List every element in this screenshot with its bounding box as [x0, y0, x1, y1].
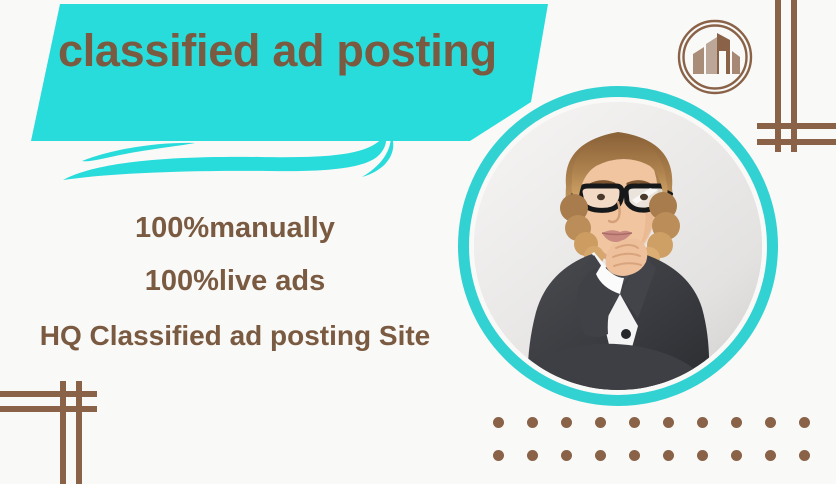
grid-dot	[731, 417, 742, 428]
grid-dot	[595, 417, 606, 428]
feature-line-3: HQ Classified ad posting Site	[0, 322, 470, 350]
grid-dot	[663, 450, 674, 461]
portrait-photo	[458, 86, 778, 406]
feature-line-1: 100%manually	[0, 214, 470, 243]
grid-dot	[799, 450, 810, 461]
grid-dot	[731, 450, 742, 461]
grid-dot	[629, 417, 640, 428]
grid-dot	[493, 417, 504, 428]
grid-dot	[561, 417, 572, 428]
grid-dot	[629, 450, 640, 461]
grid-dot	[765, 417, 776, 428]
poster-canvas: classified ad posting 100%manually 100%l…	[0, 0, 836, 484]
crosshatch-horizontal-line	[757, 123, 836, 129]
crosshatch-vertical-line	[791, 0, 797, 152]
feature-line-2: 100%live ads	[0, 267, 470, 296]
portrait-ring	[458, 86, 778, 406]
grid-dot	[697, 450, 708, 461]
grid-dot	[765, 450, 776, 461]
grid-dot	[493, 450, 504, 461]
grid-dot	[697, 417, 708, 428]
grid-dot	[799, 417, 810, 428]
grid-dot	[663, 417, 674, 428]
crosshatch-horizontal-line	[757, 139, 836, 145]
grid-dot	[595, 450, 606, 461]
grid-dot	[527, 417, 538, 428]
feature-list: 100%manually 100%live ads HQ Classified …	[0, 214, 470, 350]
grid-dot	[561, 450, 572, 461]
crosshatch-horizontal-line	[0, 391, 97, 397]
page-title: classified ad posting	[58, 24, 538, 78]
crosshatch-horizontal-line	[0, 406, 97, 412]
building-skyline-circle-logo-icon	[676, 18, 754, 96]
crosshatch-vertical-line	[775, 0, 781, 152]
grid-dot	[527, 450, 538, 461]
